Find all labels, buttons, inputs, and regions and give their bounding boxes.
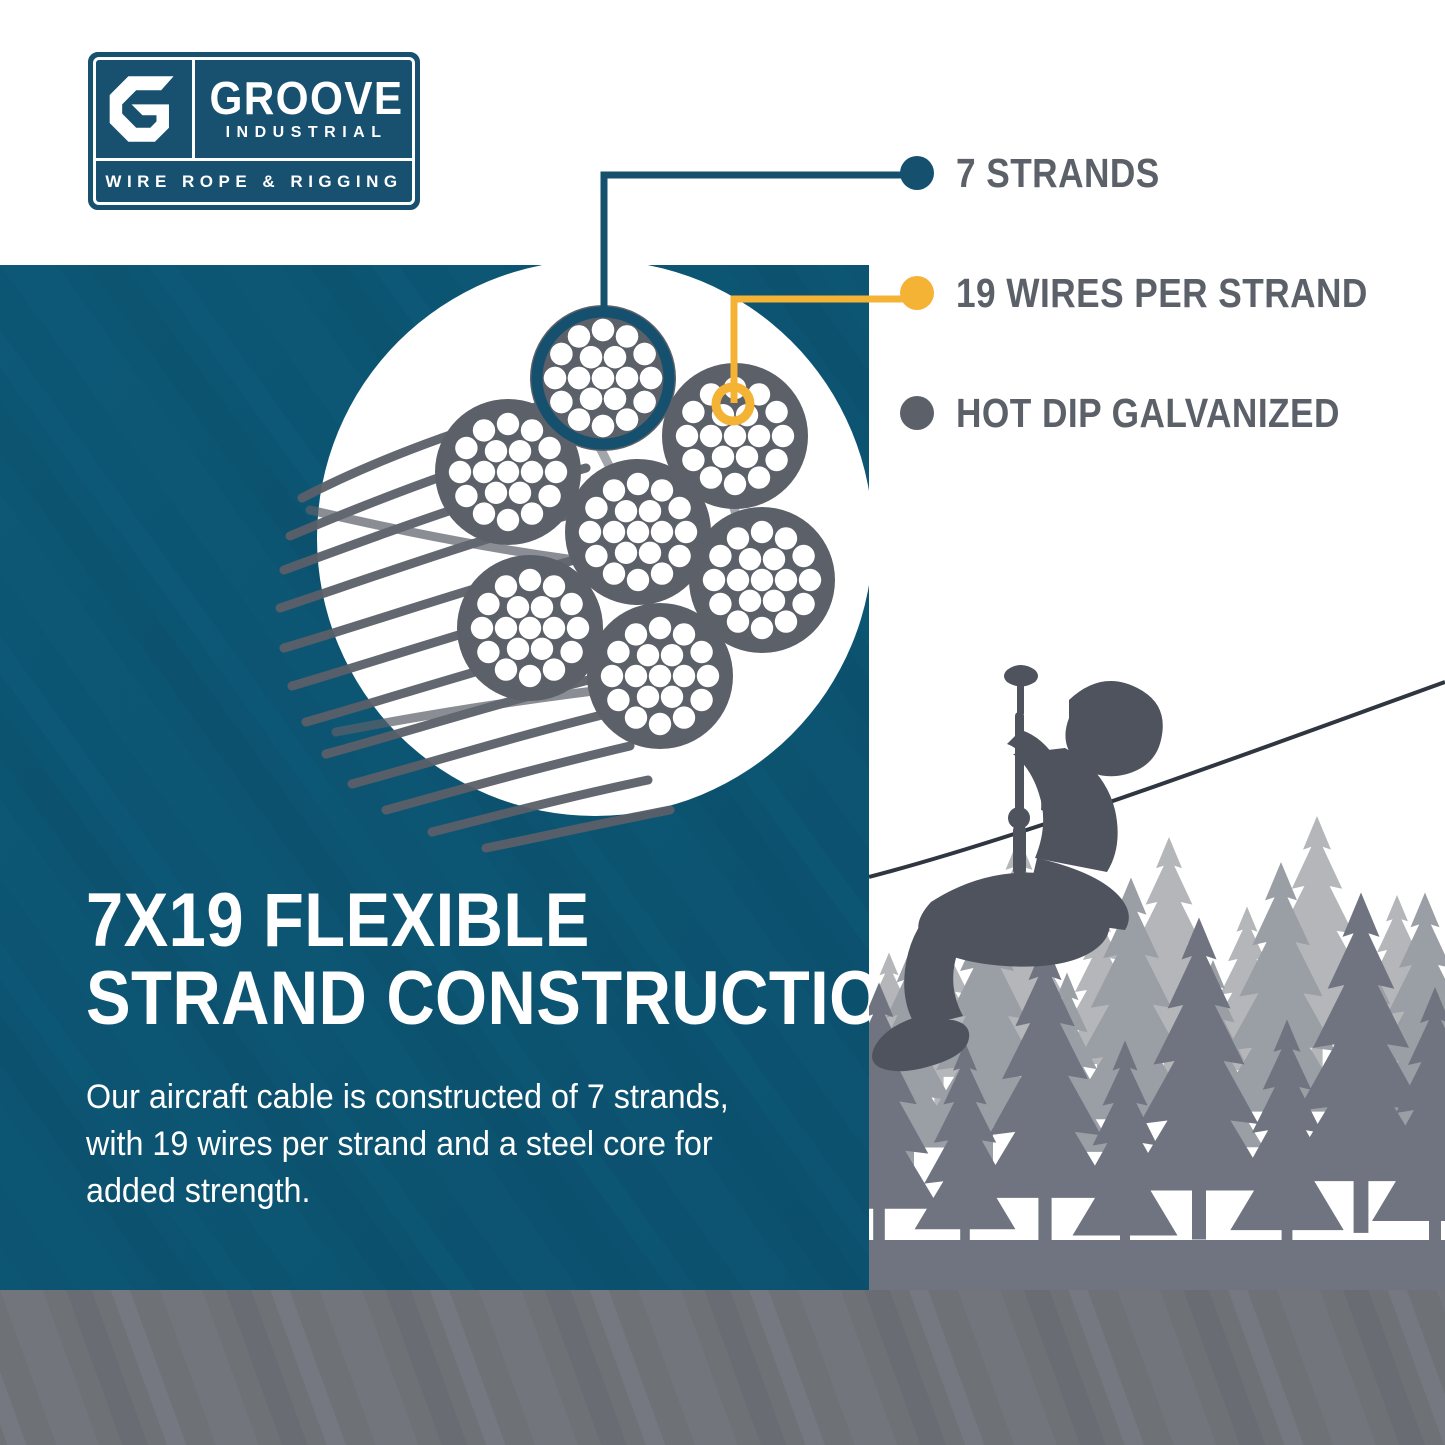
callout-item-strands[interactable]: 7 STRANDS <box>900 140 1420 206</box>
callout-dot-icon <box>900 276 934 310</box>
callout-dot-icon <box>900 156 934 190</box>
headline-line-2: STRAND CONSTRUCTION <box>86 963 755 1036</box>
callout-item-galvanized[interactable]: HOT DIP GALVANIZED <box>900 380 1420 446</box>
callout-label: 7 STRANDS <box>956 153 1160 194</box>
headline-line-1: 7X19 FLEXIBLE <box>86 885 755 958</box>
callout-item-wires[interactable]: 19 WIRES PER STRAND <box>900 260 1420 326</box>
callout-dot-icon <box>900 396 934 430</box>
leader-line-wires <box>734 299 926 403</box>
headline-block: 7X19 FLEXIBLE STRAND CONSTRUCTION Our ai… <box>86 885 846 1215</box>
callout-label: 19 WIRES PER STRAND <box>956 273 1368 314</box>
zipline-scene <box>869 640 1445 1290</box>
infographic-canvas: GROOVE INDUSTRIAL WIRE ROPE & RIGGING <box>0 0 1445 1445</box>
callout-label: HOT DIP GALVANIZED <box>956 393 1340 434</box>
leader-line-strands <box>604 175 918 312</box>
bottom-gray-band <box>0 1290 1445 1445</box>
callout-list: 7 STRANDS 19 WIRES PER STRAND HOT DIP GA… <box>900 140 1420 446</box>
body-copy: Our aircraft cable is constructed of 7 s… <box>86 1074 784 1215</box>
